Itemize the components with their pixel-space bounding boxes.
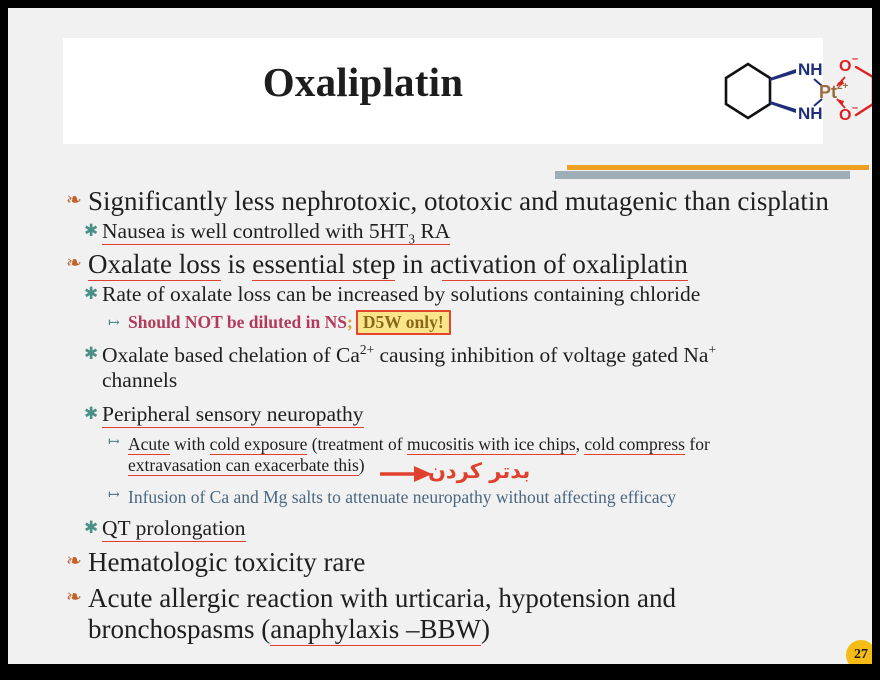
slide-content: ❧ Significantly less nephrotoxic, ototox… xyxy=(66,184,866,644)
oxaliplatin-structure-icon: NH NH Pt 2+ O – O xyxy=(718,38,872,144)
arrow-bullet-icon: ↦ xyxy=(108,484,128,503)
segment: ctivation of oxaliplatin xyxy=(442,249,688,281)
segment: is xyxy=(221,249,253,279)
segment: essential step xyxy=(252,249,395,281)
asterisk-bullet-icon: ✱ xyxy=(84,513,102,536)
bullet-item-hematologic-toxicity: ❧ Hematologic toxicity rare xyxy=(66,545,866,577)
bullet-text: Hematologic toxicity rare xyxy=(88,547,365,577)
slide-canvas: Oxaliplatin NH NH xyxy=(8,8,872,664)
bullet-item-oxalate-loss: ❧ Oxalate loss is essential step in acti… xyxy=(66,247,866,279)
bullet-item-ca-mg-infusion: ↦ Infusion of Ca and Mg salts to attenua… xyxy=(108,484,866,508)
segment: ) xyxy=(481,614,490,644)
bullet-text: Acute allergic reaction with urticaria, … xyxy=(88,583,698,643)
clover-bullet-icon: ❧ xyxy=(66,581,88,607)
asterisk-bullet-icon: ✱ xyxy=(84,399,102,422)
clover-bullet-icon: ❧ xyxy=(66,247,88,273)
segment: cold exposure xyxy=(210,434,308,455)
bullet-item-nausea: ✱ Nausea is well controlled with 5HT3 RA xyxy=(84,216,866,247)
bullet-text: Significantly less nephrotoxic, ototoxic… xyxy=(88,186,829,216)
arrow-bullet-icon: ↦ xyxy=(108,312,128,331)
segment: Acute xyxy=(128,434,170,455)
bullet-item-qt-prolongation: ✱ QT prolongation xyxy=(84,513,866,541)
bullet-item-cisplatin-comparison: ❧ Significantly less nephrotoxic, ototox… xyxy=(66,184,866,216)
svg-text:O: O xyxy=(839,58,851,75)
title-block: Oxaliplatin NH NH xyxy=(63,38,823,144)
segment: with xyxy=(170,434,210,454)
bullet-text-sub: 3 xyxy=(408,232,415,247)
segment: mucositis with ice chips xyxy=(407,434,576,455)
bullet-text-sup: 2+ xyxy=(360,342,374,357)
segment: cold compress xyxy=(584,434,685,455)
segment: in a xyxy=(395,249,442,279)
svg-text:–: – xyxy=(852,53,858,65)
segment: (treatment of xyxy=(307,434,407,454)
bullet-text-sup: + xyxy=(708,342,716,357)
bullet-text: Acute with cold exposure (treatment of m… xyxy=(128,434,748,476)
bullet-text-underlined: Peripheral sensory neuropathy xyxy=(102,402,364,428)
clover-bullet-icon: ❧ xyxy=(66,545,88,571)
segment: Oxalate loss xyxy=(88,249,221,281)
bullet-item-acute-cold-exposure: ↦ Acute with cold exposure (treatment of… xyxy=(108,431,866,476)
arrow-bullet-icon: ↦ xyxy=(108,431,128,450)
asterisk-bullet-icon: ✱ xyxy=(84,279,102,302)
asterisk-bullet-icon: ✱ xyxy=(84,339,102,362)
svg-text:Pt: Pt xyxy=(819,82,837,102)
warning-text-line: Should NOT be diluted in NS;D5W only! xyxy=(128,312,451,333)
bullet-text: Rate of oxalate loss can be increased by… xyxy=(102,282,700,307)
svg-text:O: O xyxy=(839,107,851,124)
segment: for xyxy=(685,434,710,454)
bullet-text-underlined: QT prolongation xyxy=(102,516,246,542)
segment: ) xyxy=(359,455,365,475)
bullet-text: Nausea is well controlled with 5HT3 RA xyxy=(102,219,450,247)
bullet-text-part: causing inhibition of voltage gated Na xyxy=(374,343,708,367)
warning-separator: ; xyxy=(347,312,353,332)
highlight-badge-d5w: D5W only! xyxy=(356,310,451,335)
clover-bullet-icon: ❧ xyxy=(66,184,88,210)
bullet-text-part: RA xyxy=(415,219,450,243)
page-title: Oxaliplatin xyxy=(63,58,663,106)
bullet-item-ca-chelation: ✱ Oxalate based chelation of Ca2+ causin… xyxy=(84,339,866,393)
decorative-gold-rule xyxy=(567,165,869,170)
bullet-text-part: Nausea is well controlled with 5HT xyxy=(102,219,408,243)
asterisk-bullet-icon: ✱ xyxy=(84,216,102,239)
svg-text:NH: NH xyxy=(798,60,823,79)
decorative-gray-rule xyxy=(555,171,850,179)
warning-text: Should NOT be diluted in NS xyxy=(128,312,347,332)
bullet-item-peripheral-neuropathy: ✱ Peripheral sensory neuropathy xyxy=(84,399,866,427)
bullet-text: Oxalate loss is essential step in activa… xyxy=(88,249,688,279)
bullet-item-dilution-warning: ↦ Should NOT be diluted in NS;D5W only! xyxy=(108,312,866,333)
segment: extravasation can exacerbate this xyxy=(128,455,359,476)
bullet-text: Peripheral sensory neuropathy xyxy=(102,402,364,427)
bullet-text: Infusion of Ca and Mg salts to attenuate… xyxy=(128,487,676,508)
bullet-text: Oxalate based chelation of Ca2+ causing … xyxy=(102,342,782,393)
bullet-text: QT prolongation xyxy=(102,516,246,541)
svg-text:NH: NH xyxy=(798,104,823,123)
bullet-item-allergic-reaction: ❧ Acute allergic reaction with urticaria… xyxy=(66,581,866,643)
bullet-item-chloride-solutions: ✱ Rate of oxalate loss can be increased … xyxy=(84,279,866,307)
page-number-badge: 27 xyxy=(846,640,872,664)
bullet-text-part: channels xyxy=(102,368,177,392)
segment: anaphylaxis –BBW xyxy=(270,614,481,646)
bullet-text-part: Oxalate based chelation of Ca xyxy=(102,343,360,367)
svg-text:–: – xyxy=(852,102,858,114)
